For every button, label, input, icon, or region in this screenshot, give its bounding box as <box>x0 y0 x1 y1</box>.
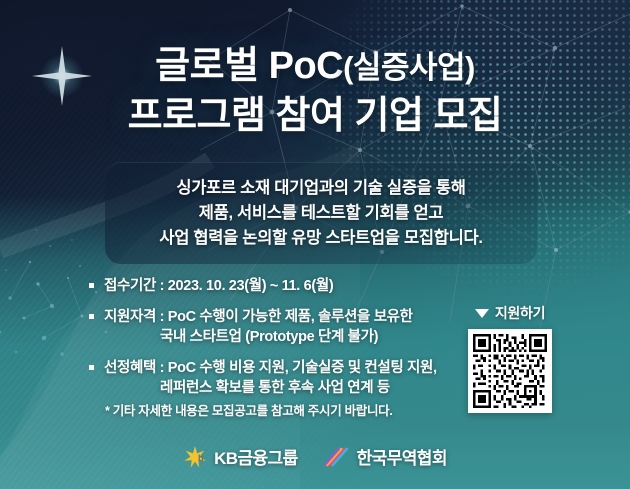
sponsor-logo-strip: b KB금융그룹 한국무역협회 <box>0 444 630 469</box>
caret-down-icon <box>475 309 489 318</box>
logo-korea-international-trade-association: 한국무역협회 <box>324 444 447 469</box>
bullet-main-text: 지원자격 : PoC 수행이 가능한 제품, 솔루션을 보유한 <box>104 309 413 325</box>
detail-bullet-list: 접수기간 : 2023. 10. 23(월) ~ 11. 6(월) 지원자격 :… <box>88 276 448 409</box>
qr-caption-label: 지원하기 <box>495 303 545 323</box>
bullet-item-application-period: 접수기간 : 2023. 10. 23(월) ~ 11. 6(월) <box>88 276 448 296</box>
qr-code-card[interactable] <box>468 329 552 413</box>
svg-text:b: b <box>198 453 204 463</box>
title-paren-text: (실증사업) <box>343 50 475 85</box>
logo-kb-label: KB금융그룹 <box>214 444 298 469</box>
title-line-1: 글로벌 PoC(실증사업) <box>0 42 630 92</box>
subtitle-line-1: 싱가포르 소재 대기업과의 기술 실증을 통해 <box>115 176 527 201</box>
qr-caption: 지원하기 <box>455 303 565 323</box>
footnote-text: * 기타 자세한 내용은 모집공고를 참고해 주시기 바랍니다. <box>105 400 393 419</box>
bullet-sub-text: 레퍼런스 확보를 통한 후속 사업 연계 등 <box>104 378 448 398</box>
apply-qr-block[interactable]: 지원하기 <box>455 303 565 413</box>
promotional-poster: 글로벌 PoC(실증사업) 프로그램 참여 기업 모집 싱가포르 소재 대기업과… <box>0 0 630 489</box>
bullet-sub-text: 국내 스타트업 (Prototype 단계 불가) <box>104 327 448 347</box>
kita-stripes-icon <box>324 446 350 468</box>
bullet-main-text: 접수기간 : 2023. 10. 23(월) ~ 11. 6(월) <box>104 278 333 294</box>
subtitle-line-3: 사업 협력을 논의할 유망 스타트업을 모집합니다. <box>115 226 527 251</box>
bullet-item-benefits: 선정혜택 : PoC 수행 비용 지원, 기술실증 및 컨설팅 지원, 레퍼런스… <box>88 358 448 398</box>
bullet-main-text: 선정혜택 : PoC 수행 비용 지원, 기술실증 및 컨설팅 지원, <box>104 360 437 376</box>
bullet-item-eligibility: 지원자격 : PoC 수행이 가능한 제품, 솔루션을 보유한 국내 스타트업 … <box>88 307 448 347</box>
title-line-2: 프로그램 참여 기업 모집 <box>0 92 630 140</box>
kb-star-icon: b <box>183 445 207 469</box>
subtitle-line-2: 제품, 서비스를 테스트할 기회를 얻고 <box>115 201 527 226</box>
poster-title: 글로벌 PoC(실증사업) 프로그램 참여 기업 모집 <box>0 42 630 140</box>
subtitle-panel: 싱가포르 소재 대기업과의 기술 실증을 통해 제품, 서비스를 테스트할 기회… <box>105 162 537 264</box>
qr-code-icon[interactable] <box>473 334 547 408</box>
logo-kb-financial-group: b KB금융그룹 <box>183 444 298 469</box>
logo-kita-label: 한국무역협회 <box>357 444 447 469</box>
title-main-text: 글로벌 PoC <box>155 45 343 87</box>
